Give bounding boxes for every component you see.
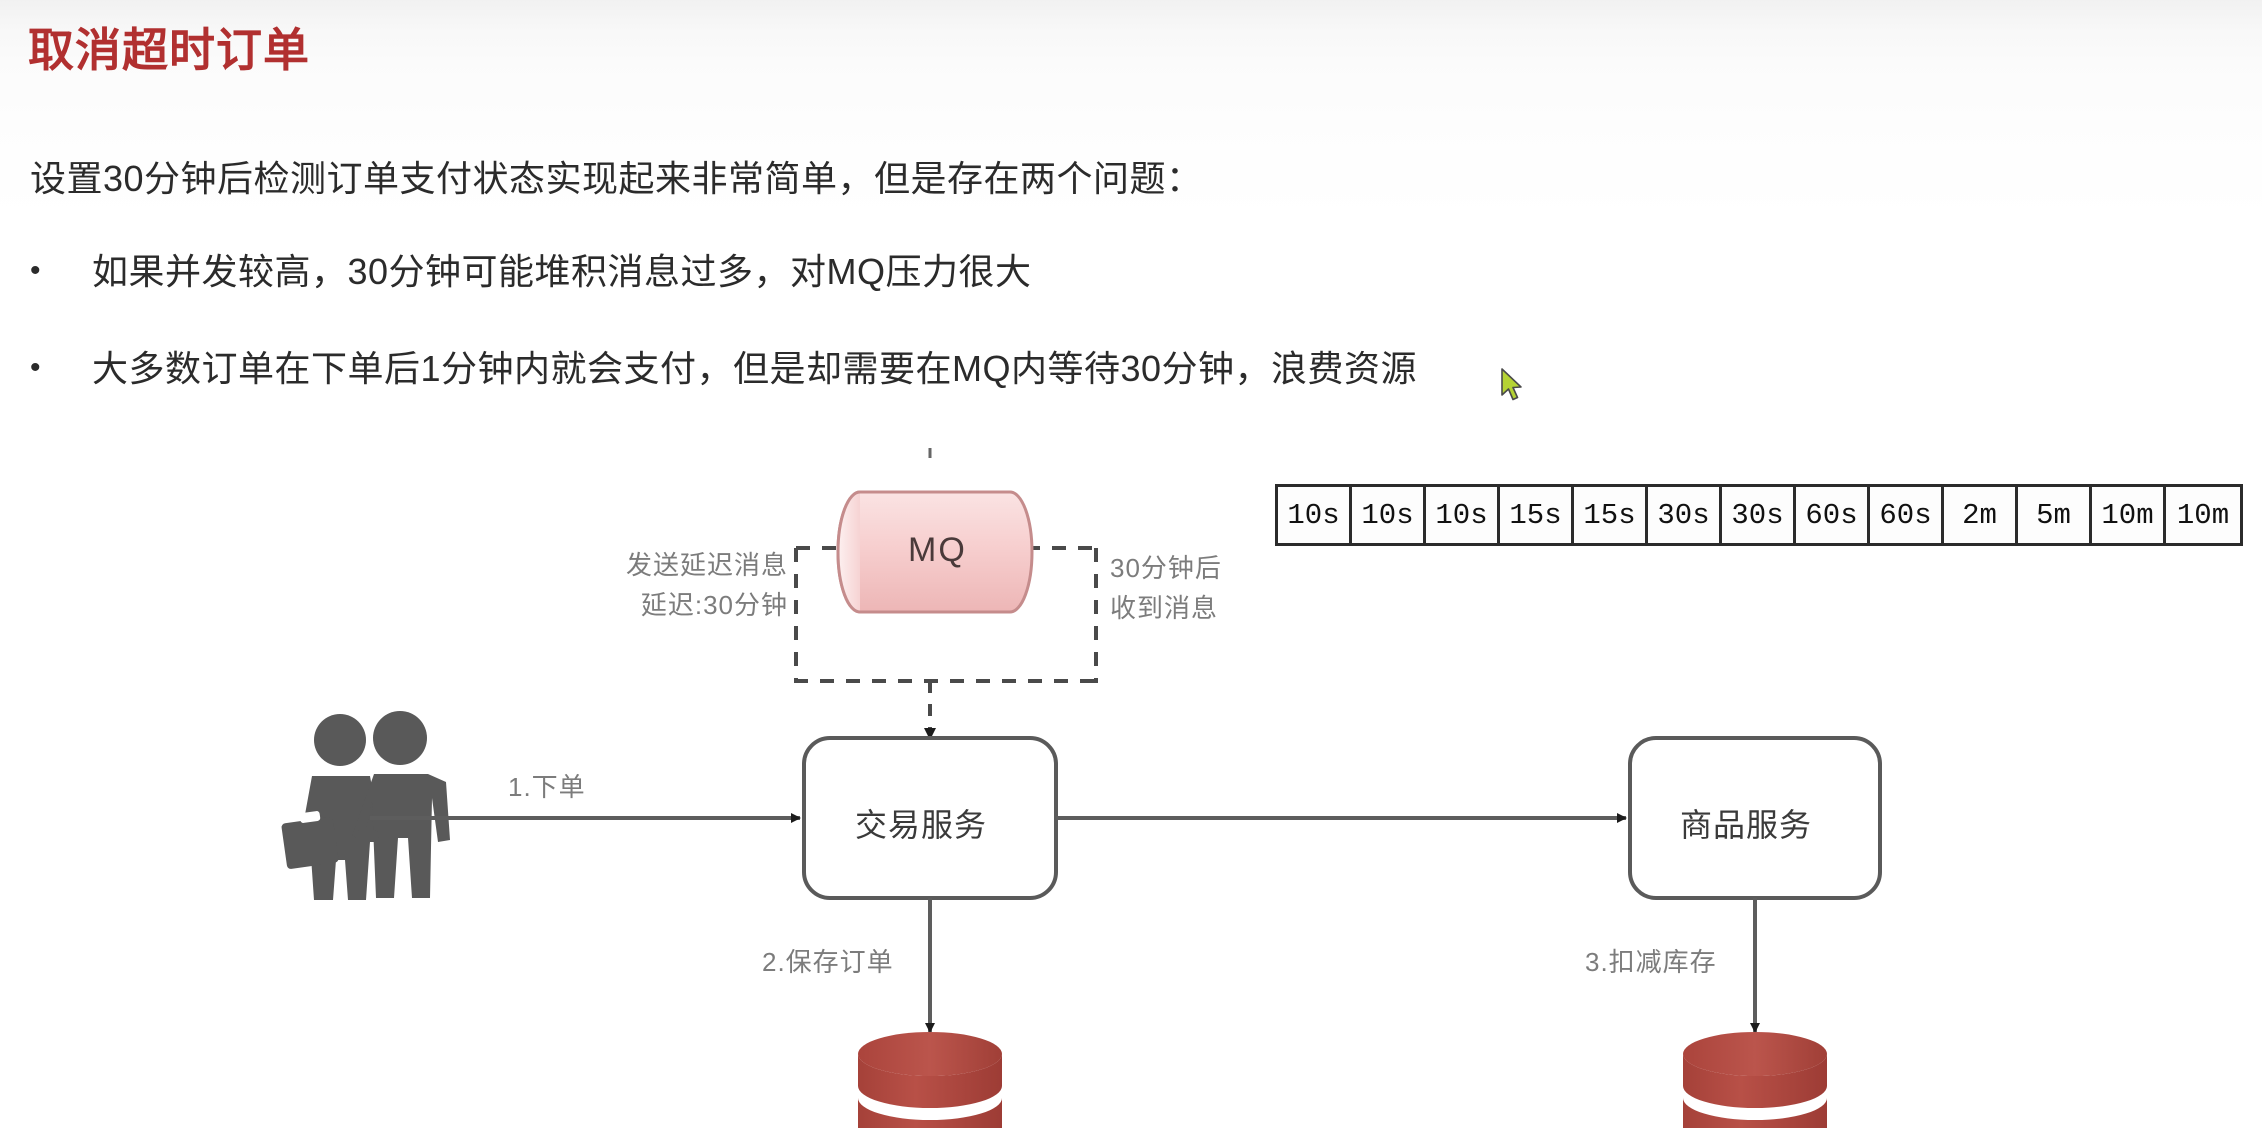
send-delay-line-2: 延迟:30分钟 [641, 590, 788, 620]
lead-paragraph: 设置30分钟后检测订单支付状态实现起来非常简单，但是存在两个问题： [30, 150, 1203, 202]
time-slot-cell: 60s [1870, 487, 1944, 543]
bullet-item-2: •大多数订单在下单后1分钟内就会支付，但是却需要在MQ内等待30分钟，浪费资源 [30, 340, 1417, 392]
product-service-label: 商品服务 [1680, 800, 1812, 846]
time-slot-cell: 15s [1574, 487, 1648, 543]
time-slot-cell: 2m [1944, 487, 2018, 543]
bullet-item-1: •如果并发较高，30分钟可能堆积消息过多，对MQ压力很大 [30, 243, 1032, 295]
time-slot-cell: 10m [2092, 487, 2166, 543]
receive-after-delay-label: 30分钟后 收到消息 [1110, 548, 1222, 628]
stock-database-shape [1683, 1032, 1827, 1128]
deduct-stock-edge-label: 3.扣减库存 [1585, 943, 1717, 981]
receive-line-2: 收到消息 [1110, 593, 1218, 623]
time-slot-cell: 30s [1722, 487, 1796, 543]
slide-canvas: 取消超时订单 设置30分钟后检测订单支付状态实现起来非常简单，但是存在两个问题：… [0, 0, 2262, 1128]
send-delay-message-label: 发送延迟消息 延迟:30分钟 [570, 545, 788, 625]
order-database-shape [858, 1032, 1002, 1128]
page-title: 取消超时订单 [28, 14, 310, 80]
time-slot-cell: 10s [1278, 487, 1352, 543]
receive-line-1: 30分钟后 [1110, 553, 1222, 583]
time-slot-cell: 5m [2018, 487, 2092, 543]
bullet-marker-icon: • [30, 351, 92, 385]
bullet-text-2: 大多数订单在下单后1分钟内就会支付，但是却需要在MQ内等待30分钟，浪费资源 [92, 340, 1417, 392]
time-slot-cell: 10s [1352, 487, 1426, 543]
mouse-cursor-icon [1500, 368, 1526, 402]
time-slot-cell: 15s [1500, 487, 1574, 543]
time-slot-cell: 10s [1426, 487, 1500, 543]
trade-service-label: 交易服务 [855, 800, 987, 846]
bullet-marker-icon: • [30, 254, 92, 288]
users-icon-shape [281, 711, 450, 900]
bullet-text-1: 如果并发较高，30分钟可能堆积消息过多，对MQ压力很大 [92, 243, 1032, 295]
time-slot-cell: 10m [2166, 487, 2240, 543]
time-slot-cell: 30s [1648, 487, 1722, 543]
time-slot-cell: 60s [1796, 487, 1870, 543]
time-slot-table: 10s 10s 10s 15s 15s 30s 30s 60s 60s 2m 5… [1275, 484, 2243, 546]
save-order-edge-label: 2.保存订单 [762, 943, 894, 981]
place-order-edge-label: 1.下单 [508, 768, 586, 806]
send-delay-line-1: 发送延迟消息 [626, 550, 788, 580]
mq-node-label: MQ [908, 531, 967, 570]
